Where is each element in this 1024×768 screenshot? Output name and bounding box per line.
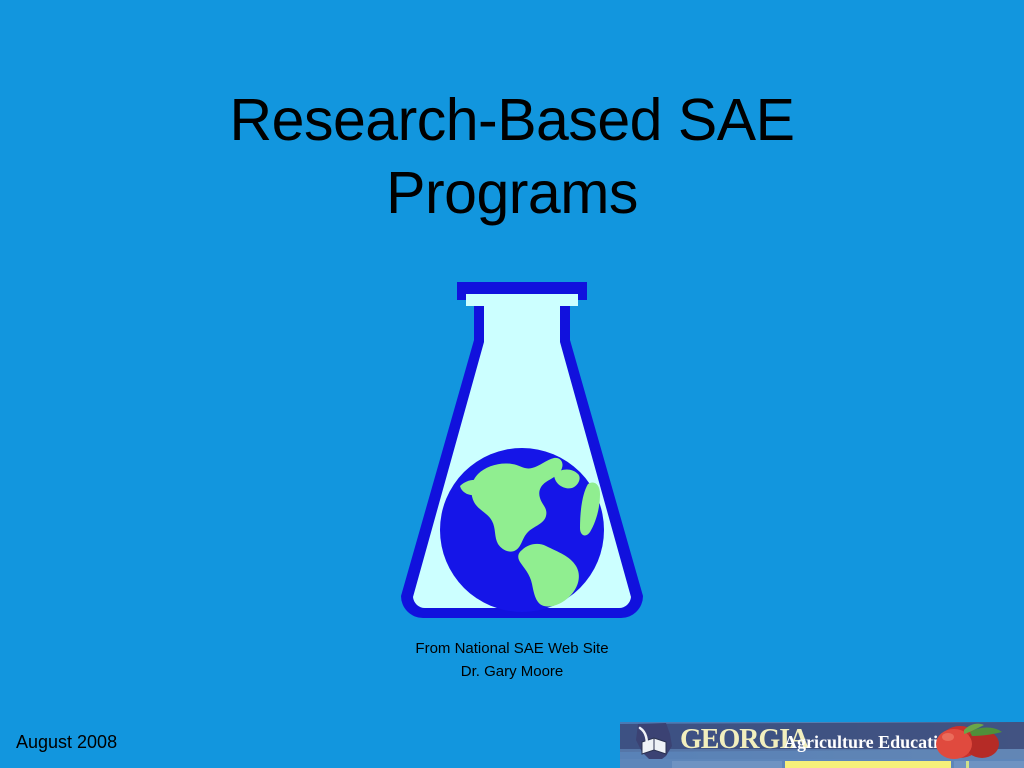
caption: From National SAE Web Site Dr. Gary Moor… [0, 637, 1024, 683]
tomato-front [936, 729, 972, 759]
logo-bottom-tick [966, 761, 969, 768]
georgia-ag-education-logo: GEORGIA Agriculture Education [620, 722, 1024, 768]
slide-date: August 2008 [16, 731, 117, 753]
logo-accent-bar [785, 761, 951, 768]
logo-bottom-right-block [954, 761, 1024, 768]
caption-line-author: Dr. Gary Moore [0, 660, 1024, 683]
caption-line-source: From National SAE Web Site [0, 637, 1024, 660]
tomato-highlight [942, 733, 954, 741]
globe-icon [440, 448, 604, 612]
erlenmeyer-flask-icon [382, 278, 662, 628]
logo-bottom-left-block [672, 761, 782, 768]
slide-canvas: Research-Based SAE Programs [0, 0, 1024, 768]
page-title: Research-Based SAE Programs [0, 84, 1024, 230]
logo-banner-graphic: GEORGIA Agriculture Education [620, 722, 1024, 768]
flask-illustration [382, 278, 662, 628]
logo-agriculture-education-text: Agriculture Education [784, 732, 957, 752]
